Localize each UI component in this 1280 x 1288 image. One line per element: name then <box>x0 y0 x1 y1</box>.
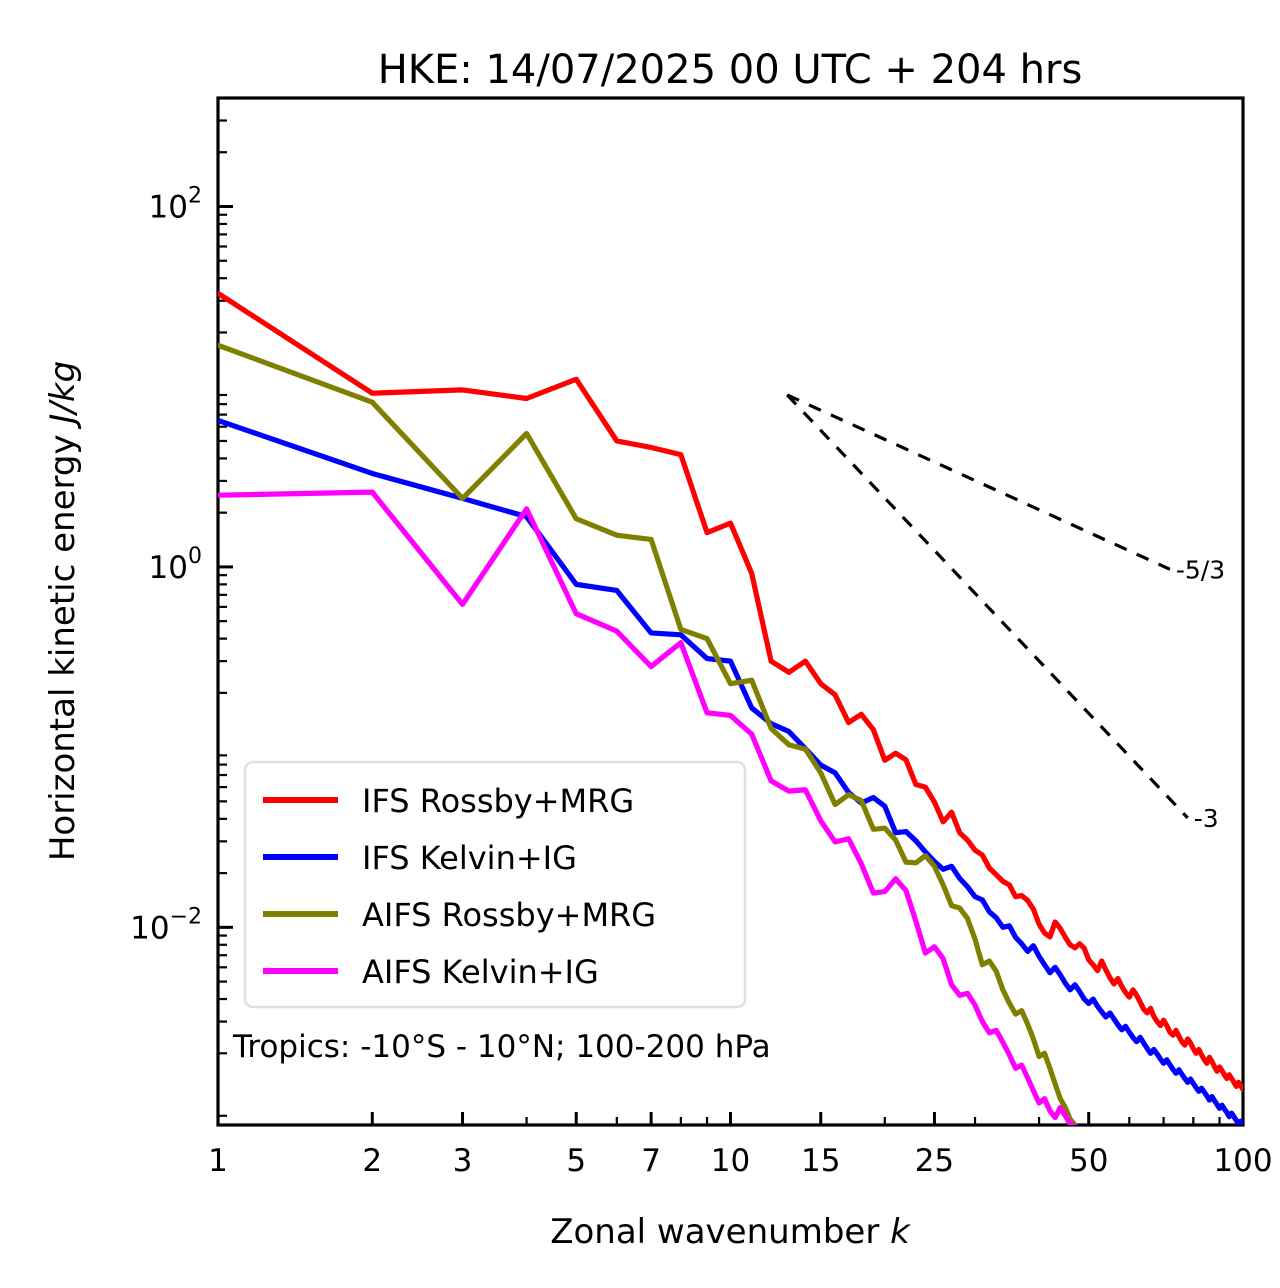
legend-label-0: IFS Rossby+MRG <box>362 782 634 820</box>
reference-line-label: -3 <box>1194 804 1219 833</box>
spectrum-chart: HKE: 14/07/2025 00 UTC + 204 hrs 1235710… <box>0 0 1280 1288</box>
y-tick-label: 100 <box>149 544 202 586</box>
x-tick-label: 7 <box>641 1143 661 1179</box>
x-tick-label: 1 <box>208 1143 228 1179</box>
x-tick-label: 50 <box>1069 1143 1108 1179</box>
y-tick-label: 10−2 <box>130 904 202 946</box>
x-axis-label: Zonal wavenumber k <box>550 1212 911 1252</box>
y-tick-label: 102 <box>149 183 202 225</box>
reference-line-1 <box>787 395 1188 818</box>
reference-line-0 <box>787 395 1170 569</box>
region-annotation: Tropics: -10°S - 10°N; 100-200 hPa <box>232 1029 771 1065</box>
x-tick-label: 5 <box>566 1143 586 1179</box>
legend-label-2: AIFS Rossby+MRG <box>362 896 656 934</box>
figure-canvas: HKE: 14/07/2025 00 UTC + 204 hrs 1235710… <box>0 0 1280 1288</box>
x-tick-label: 3 <box>453 1143 473 1179</box>
chart-title: HKE: 14/07/2025 00 UTC + 204 hrs <box>378 47 1083 93</box>
x-tick-label: 25 <box>915 1143 954 1179</box>
reference-slope-lines: -5/3-3 <box>787 395 1225 833</box>
x-axis-ticks: 1235710152550100 <box>208 1112 1272 1179</box>
legend-label-1: IFS Kelvin+IG <box>362 839 577 877</box>
legend-label-3: AIFS Kelvin+IG <box>362 953 599 991</box>
y-axis-label: Horizontal kinetic energy J/kg <box>43 361 83 861</box>
chart-legend[interactable]: IFS Rossby+MRGIFS Kelvin+IGAIFS Rossby+M… <box>245 762 745 1007</box>
x-tick-label: 15 <box>801 1143 840 1179</box>
x-tick-label: 2 <box>362 1143 382 1179</box>
x-tick-label: 100 <box>1213 1143 1272 1179</box>
reference-line-label: -5/3 <box>1176 555 1225 584</box>
x-tick-label: 10 <box>711 1143 750 1179</box>
